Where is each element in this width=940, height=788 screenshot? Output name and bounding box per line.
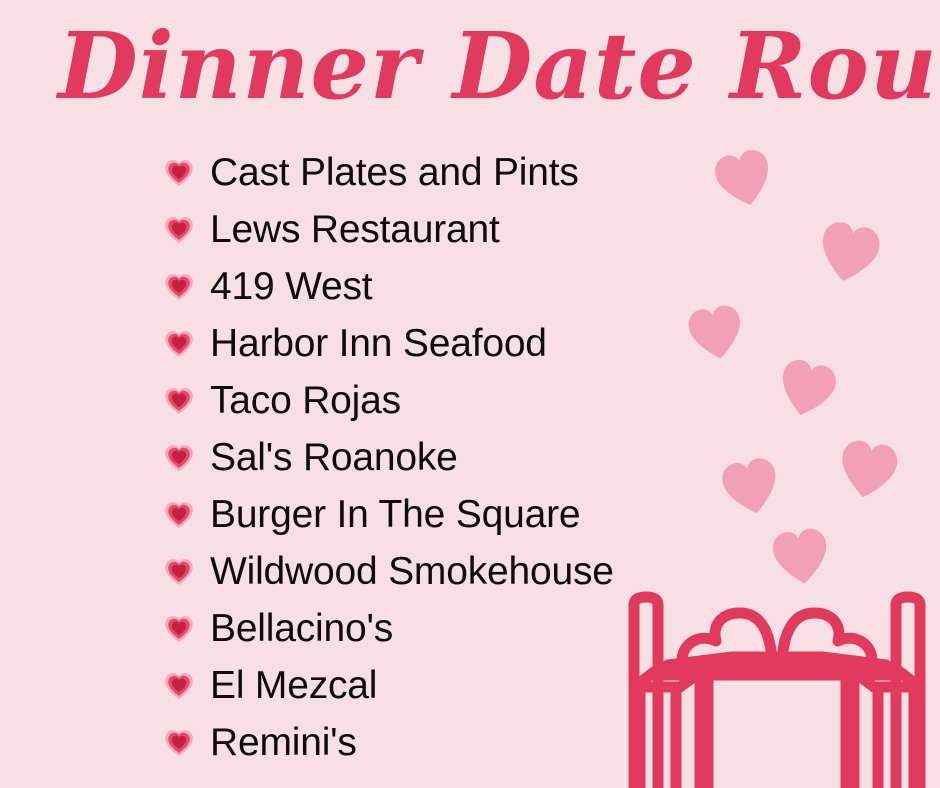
heart-icon: [164, 273, 194, 301]
list-item-label: Burger In The Square: [210, 495, 580, 534]
heart-icon: [164, 672, 194, 700]
list-item: Cast Plates and Pints: [164, 144, 864, 201]
list-item-label: Cast Plates and Pints: [210, 153, 579, 192]
list-item: Wildwood Smokehouse: [164, 543, 864, 600]
chair-right-backtop: [896, 597, 920, 605]
list-item-label: Remini's: [210, 723, 357, 762]
page-title-text: Dinner Date Roundup: [55, 12, 940, 120]
list-item: Sal's Roanoke: [164, 429, 864, 486]
list-item-label: El Mezcal: [210, 666, 377, 705]
heart-icon: [164, 444, 194, 472]
heart-icon: [164, 159, 194, 187]
list-item-label: Harbor Inn Seafood: [210, 324, 547, 363]
list-item-label: Lews Restaurant: [210, 210, 500, 249]
list-item: Lews Restaurant: [164, 201, 864, 258]
page-title: Dinner Date Roundup: [58, 8, 888, 126]
heart-icon: [164, 615, 194, 643]
restaurant-list: Cast Plates and PintsLews Restaurant419 …: [164, 144, 864, 771]
list-item: Taco Rojas: [164, 372, 864, 429]
list-item: Bellacino's: [164, 600, 864, 657]
list-item-label: Taco Rojas: [210, 381, 401, 420]
heart-icon: [164, 558, 194, 586]
table-top-right-edge: [886, 665, 902, 675]
list-item: Burger In The Square: [164, 486, 864, 543]
list-item-label: Wildwood Smokehouse: [210, 552, 614, 591]
list-item-label: Sal's Roanoke: [210, 438, 458, 477]
list-item-label: Bellacino's: [210, 609, 393, 648]
heart-icon: [164, 330, 194, 358]
heart-icon: [164, 387, 194, 415]
heart-icon: [164, 501, 194, 529]
list-item: Harbor Inn Seafood: [164, 315, 864, 372]
list-item-label: 419 West: [210, 267, 372, 306]
poster-canvas: Dinner Date Roundup Cast Plates and Pint…: [0, 0, 940, 788]
list-item: Remini's: [164, 714, 864, 771]
heart-icon: [164, 729, 194, 757]
list-item: 419 West: [164, 258, 864, 315]
heart-icon: [164, 216, 194, 244]
list-item: El Mezcal: [164, 657, 864, 714]
